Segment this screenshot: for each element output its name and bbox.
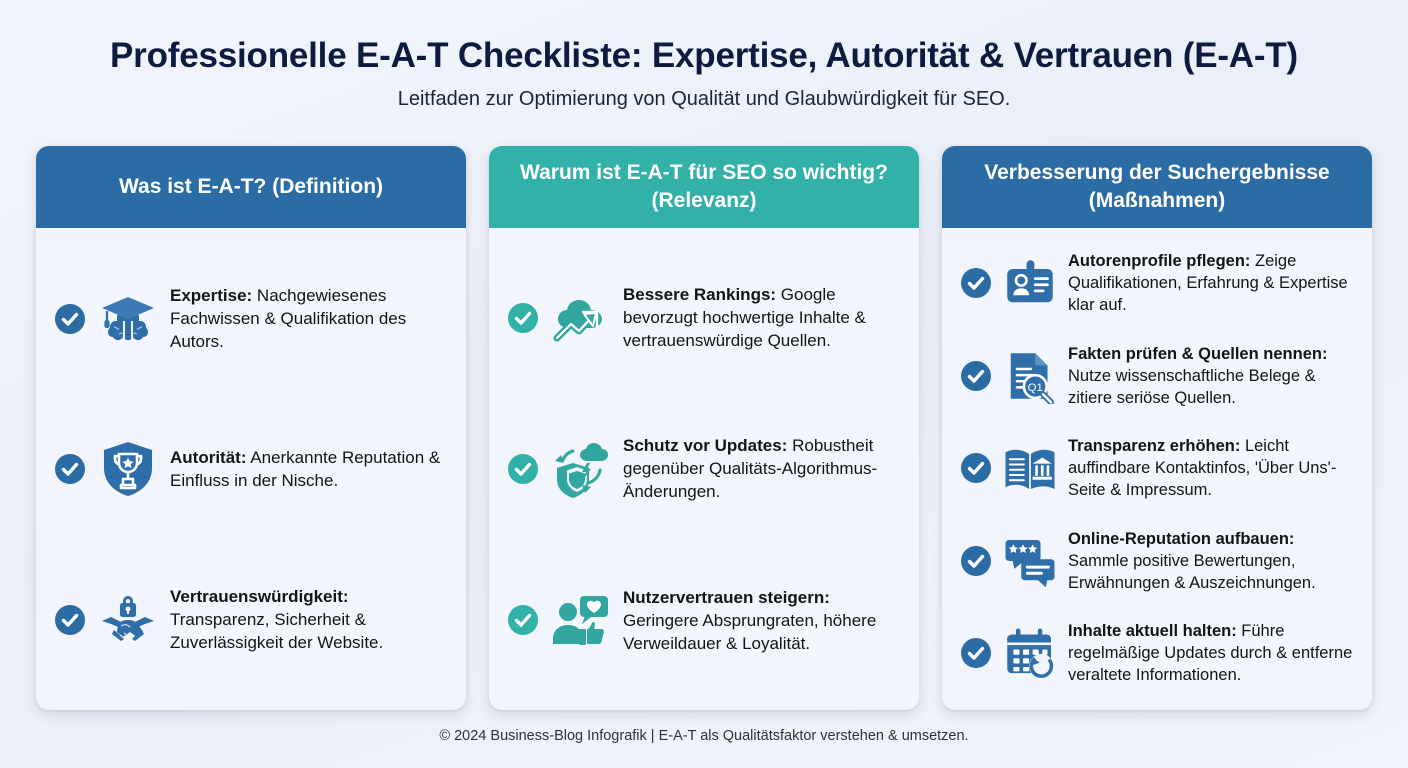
card-title-definition: Was ist E-A-T? (Definition) xyxy=(119,173,383,201)
card-body-relevanz: Bessere Rankings: Google bevorzugt hochw… xyxy=(489,228,919,710)
list-item-lead: Schutz vor Updates: xyxy=(623,436,787,455)
page-header: Professionelle E-A-T Checkliste: Experti… xyxy=(0,0,1408,112)
id-badge-icon xyxy=(1002,255,1058,311)
list-item-text: Online-Reputation aufbauen: Sammle posit… xyxy=(1068,528,1354,594)
check-circle-icon xyxy=(960,452,992,484)
list-item-text: Expertise: Nachgewiesenes Fachwissen & Q… xyxy=(170,284,444,353)
list-item: Online-Reputation aufbauen: Sammle posit… xyxy=(960,528,1354,594)
list-item-body: Geringere Absprungraten, höhere Verweild… xyxy=(623,611,876,653)
list-item-lead: Vertrauenswürdigkeit: xyxy=(170,587,349,606)
list-item-text: Autorität: Anerkannte Reputation & Einfl… xyxy=(170,446,444,492)
list-item: Schutz vor Updates: Robustheit gegenüber… xyxy=(507,434,897,503)
list-item: Inhalte aktuell halten: Führe regelmäßig… xyxy=(960,620,1354,686)
svg-text:Q1: Q1 xyxy=(1028,381,1043,393)
check-circle-icon xyxy=(960,545,992,577)
list-item-text: Autorenprofile pflegen: Zeige Qualifikat… xyxy=(1068,250,1354,316)
list-item-lead: Inhalte aktuell halten: xyxy=(1068,622,1237,640)
card-header-massnahmen: Verbesserung der Suchergebnisse (Maßnahm… xyxy=(942,146,1372,228)
list-item-body: Transparenz, Sicherheit & Zuverlässigkei… xyxy=(170,610,383,652)
cloud-growth-arrow-icon xyxy=(549,286,613,350)
check-circle-icon xyxy=(960,360,992,392)
list-item-text: Transparenz erhöhen: Leicht auffindbare … xyxy=(1068,435,1354,501)
list-item-lead: Nutzervertrauen steigern: xyxy=(623,588,830,607)
list-item-text: Nutzervertrauen steigern: Geringere Absp… xyxy=(623,586,897,655)
shield-trophy-icon xyxy=(96,437,160,501)
list-item-lead: Autorität: xyxy=(170,448,246,467)
list-item: Expertise: Nachgewiesenes Fachwissen & Q… xyxy=(54,284,444,353)
card-definition: Was ist E-A-T? (Definition) xyxy=(36,146,466,710)
card-body-definition: Expertise: Nachgewiesenes Fachwissen & Q… xyxy=(36,228,466,710)
list-item-lead: Bessere Rankings: xyxy=(623,285,776,304)
list-item: Bessere Rankings: Google bevorzugt hochw… xyxy=(507,283,897,352)
list-item-lead: Expertise: xyxy=(170,286,252,305)
footer: © 2024 Business-Blog Infografik | E-A-T … xyxy=(0,728,1408,744)
list-item-lead: Fakten prüfen & Quellen nennen: xyxy=(1068,345,1327,363)
handshake-lock-icon xyxy=(96,588,160,652)
check-circle-icon xyxy=(960,267,992,299)
check-circle-icon xyxy=(960,637,992,669)
card-relevanz: Warum ist E-A-T für SEO so wichtig? (Rel… xyxy=(489,146,919,710)
open-book-bank-icon xyxy=(1002,440,1058,496)
list-item-text: Vertrauenswürdigkeit: Transparenz, Siche… xyxy=(170,585,444,654)
list-item-body: Nutze wissenschaftliche Belege & zitiere… xyxy=(1068,367,1316,407)
list-item-text: Fakten prüfen & Quellen nennen: Nutze wi… xyxy=(1068,343,1354,409)
document-magnifier-icon: Q1 xyxy=(1002,348,1058,404)
calendar-refresh-icon xyxy=(1002,625,1058,681)
list-item-text: Inhalte aktuell halten: Führe regelmäßig… xyxy=(1068,620,1354,686)
list-item: Q1 Fakten prüfen & Quellen nennen: Nutze… xyxy=(960,343,1354,409)
check-circle-icon xyxy=(54,604,86,636)
columns-container: Was ist E-A-T? (Definition) xyxy=(36,146,1372,710)
card-body-massnahmen: Autorenprofile pflegen: Zeige Qualifikat… xyxy=(942,228,1372,710)
card-title-relevanz: Warum ist E-A-T für SEO so wichtig? (Rel… xyxy=(505,159,903,215)
list-item: Autorenprofile pflegen: Zeige Qualifikat… xyxy=(960,250,1354,316)
list-item-body: Sammle positive Bewertungen, Erwähnungen… xyxy=(1068,552,1316,592)
infographic-page: Professionelle E-A-T Checkliste: Experti… xyxy=(0,0,1408,768)
card-header-definition: Was ist E-A-T? (Definition) xyxy=(36,146,466,228)
shield-cloud-sync-icon xyxy=(549,437,613,501)
list-item-text: Schutz vor Updates: Robustheit gegenüber… xyxy=(623,434,897,503)
graduation-cap-brain-icon xyxy=(96,287,160,351)
list-item: Vertrauenswürdigkeit: Transparenz, Siche… xyxy=(54,585,444,654)
page-subtitle: Leitfaden zur Optimierung von Qualität u… xyxy=(0,86,1408,112)
list-item-lead: Transparenz erhöhen: xyxy=(1068,437,1240,455)
list-item-lead: Autorenprofile pflegen: xyxy=(1068,252,1250,270)
card-title-massnahmen: Verbesserung der Suchergebnisse (Maßnahm… xyxy=(958,159,1356,215)
review-stars-chat-icon xyxy=(1002,533,1058,589)
list-item: Autorität: Anerkannte Reputation & Einfl… xyxy=(54,437,444,501)
check-circle-icon xyxy=(507,453,539,485)
user-heart-thumbsup-icon xyxy=(549,588,613,652)
check-circle-icon xyxy=(507,604,539,636)
check-circle-icon xyxy=(54,303,86,335)
list-item: Nutzervertrauen steigern: Geringere Absp… xyxy=(507,586,897,655)
check-circle-icon xyxy=(507,302,539,334)
card-massnahmen: Verbesserung der Suchergebnisse (Maßnahm… xyxy=(942,146,1372,710)
list-item: Transparenz erhöhen: Leicht auffindbare … xyxy=(960,435,1354,501)
card-header-relevanz: Warum ist E-A-T für SEO so wichtig? (Rel… xyxy=(489,146,919,228)
list-item-lead: Online-Reputation aufbauen: xyxy=(1068,530,1294,548)
page-title: Professionelle E-A-T Checkliste: Experti… xyxy=(0,34,1408,78)
check-circle-icon xyxy=(54,453,86,485)
list-item-text: Bessere Rankings: Google bevorzugt hochw… xyxy=(623,283,897,352)
